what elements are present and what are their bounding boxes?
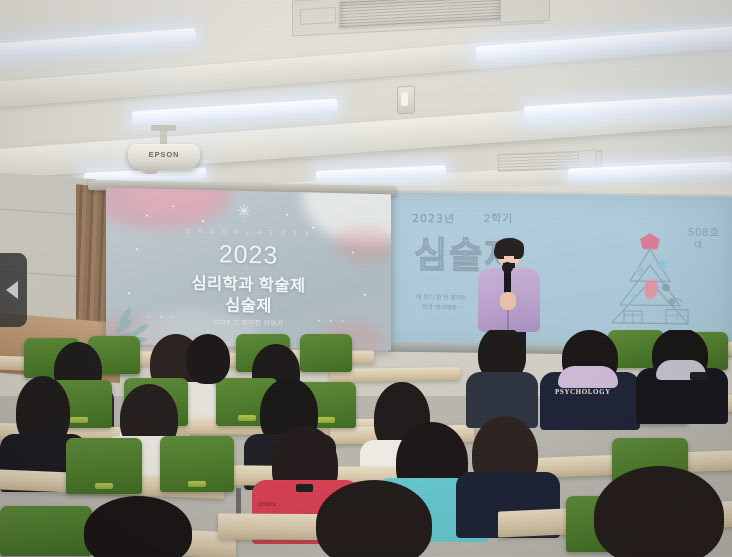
presenter-hair-right xyxy=(514,244,524,259)
whiteboard-note-1: 매 학기 한 번 열리는 xyxy=(416,294,467,304)
screen-star-dot xyxy=(312,226,314,228)
ac-vent-lower-box xyxy=(578,150,596,169)
whiteboard-term-text: 2학기 xyxy=(484,210,513,226)
whiteboard: 2023년 2학기 심술제 매 학기 한 번 열리는 학과 행사에요 ~ 508… xyxy=(388,194,732,351)
chair xyxy=(300,334,352,372)
smoke-detector xyxy=(397,86,415,115)
smartphone xyxy=(690,372,707,380)
christmas-tree-drawing xyxy=(594,222,706,334)
screen-dots-right: • • • xyxy=(318,319,348,326)
screen-dots-left: • • • xyxy=(148,315,178,322)
ceiling: EPSON xyxy=(0,0,732,196)
screen-star-dot xyxy=(146,215,148,217)
ac-vent-side xyxy=(500,0,550,23)
audience-head-foreground xyxy=(594,466,724,557)
smartphone xyxy=(296,484,313,492)
whiteboard-year-text: 2023년 xyxy=(412,210,455,227)
projection-screen: ✳ G o o d b y e 2 0 2 3 2023 심리학과 학술제 심술… xyxy=(106,188,391,351)
chair xyxy=(0,506,92,556)
audience-seating-area: PSYCHOLOGY crisis xyxy=(0,330,732,557)
presenter-hands xyxy=(500,292,516,310)
desk-leg xyxy=(236,488,241,516)
sparkle-icon: ✳ xyxy=(235,203,253,221)
whiteboard-note-2: 학과 행사에요 ~ xyxy=(422,304,462,314)
triangle-left-icon xyxy=(6,281,18,299)
ceiling-light-3 xyxy=(132,99,338,125)
presenter-hair-left xyxy=(494,244,504,259)
audience-head-foreground xyxy=(84,496,192,557)
photo-viewer-stage: EPSON 2023년 2학기 심술제 매 학기 한 번 열리는 학과 행사에요… xyxy=(0,0,732,557)
screen-star-dot xyxy=(286,214,288,216)
hood-collar xyxy=(558,366,618,388)
hoodie-text: crisis xyxy=(258,502,276,508)
screen-star-dot xyxy=(202,220,204,222)
ceiling-light-1 xyxy=(0,28,196,57)
ac-vent-small xyxy=(300,7,336,25)
screen-star-dot xyxy=(172,205,174,207)
previous-photo-button[interactable] xyxy=(0,253,27,327)
jacket-text: PSYCHOLOGY xyxy=(555,388,611,396)
chair xyxy=(160,436,234,492)
projector-brand-label: EPSON xyxy=(128,150,200,159)
chair xyxy=(66,438,142,494)
audience-head xyxy=(186,334,230,384)
